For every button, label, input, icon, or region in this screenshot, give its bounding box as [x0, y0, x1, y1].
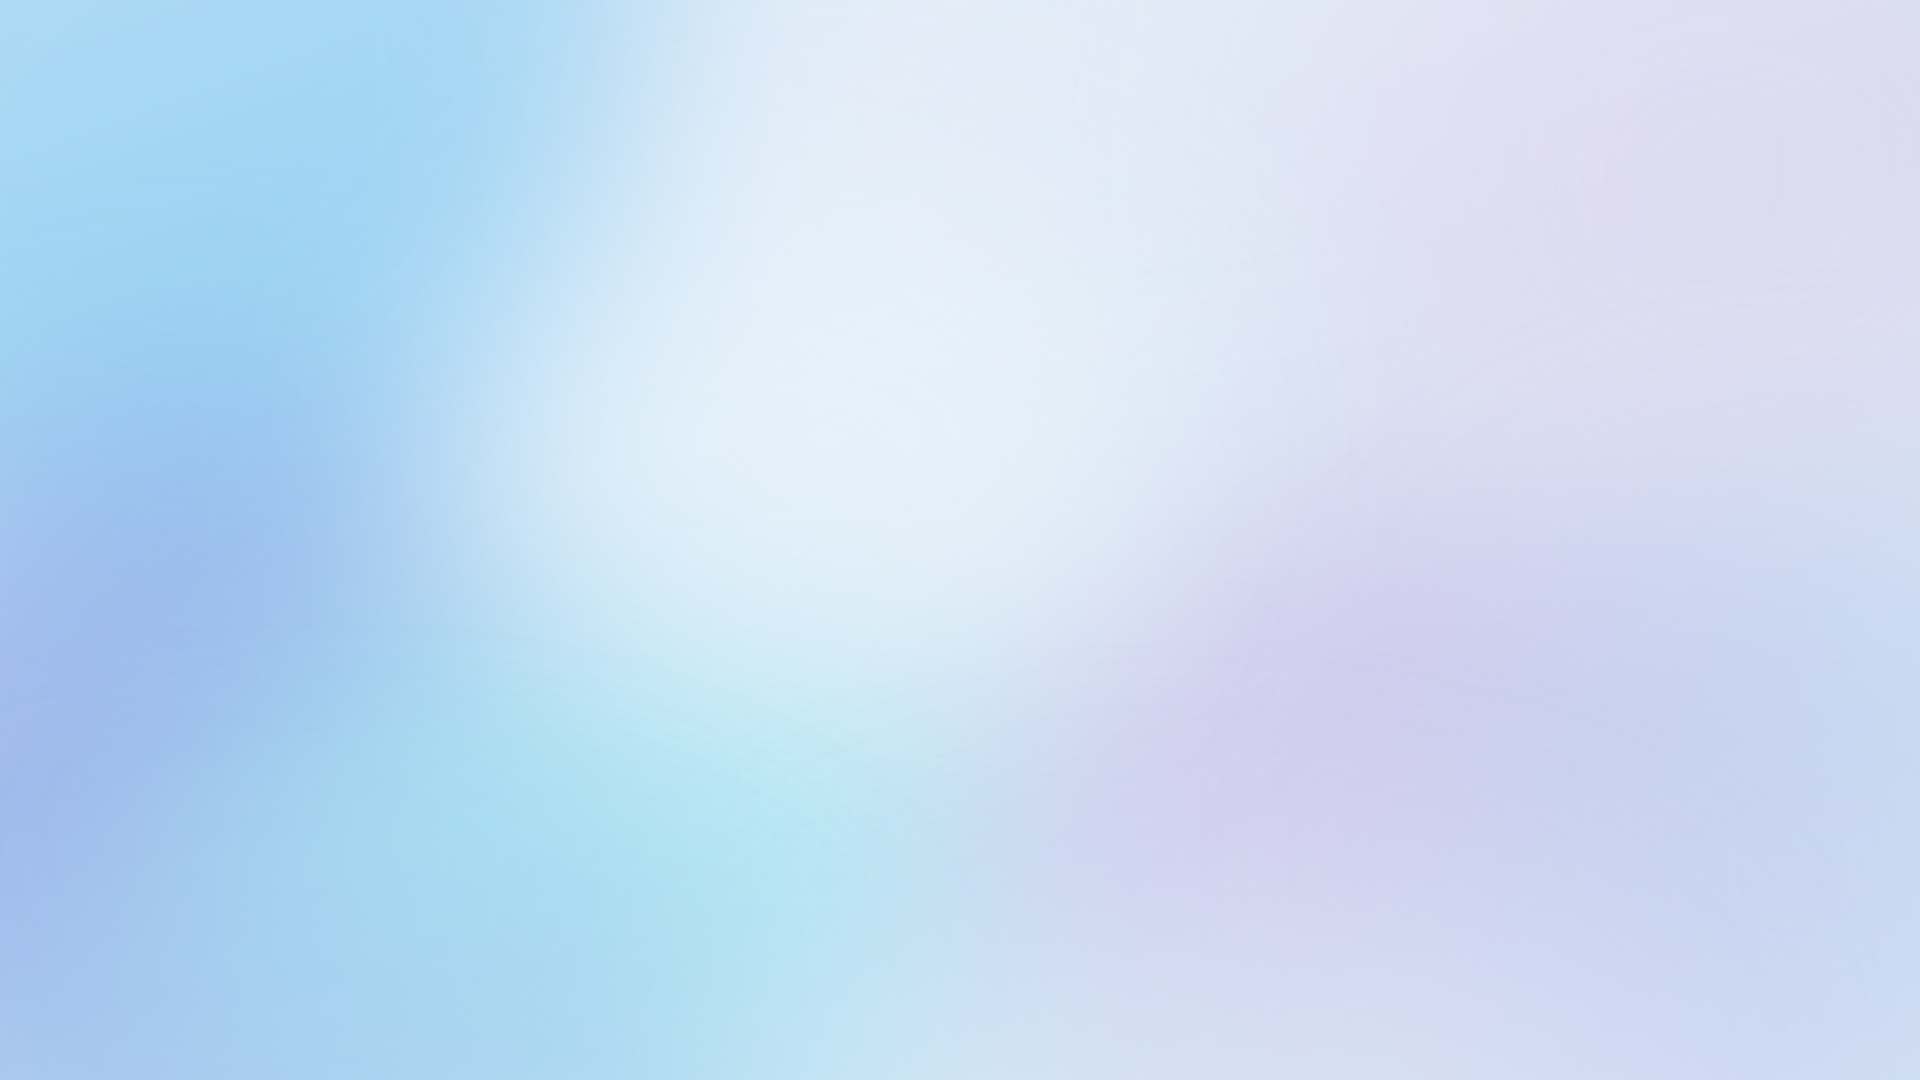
chevron-band: [78, 368, 1848, 466]
process-diagram: [0, 0, 1920, 1080]
